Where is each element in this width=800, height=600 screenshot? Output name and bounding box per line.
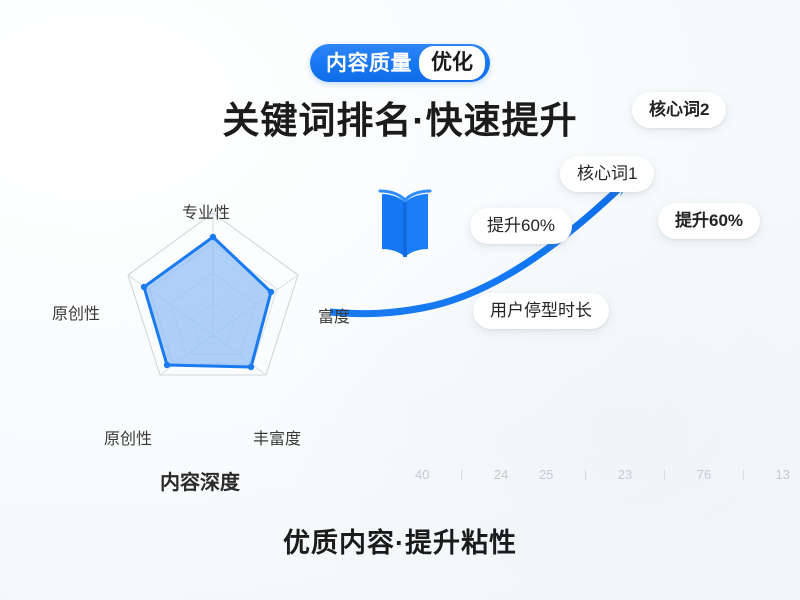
poster-canvas: 内容质量 优化 关键词排名·快速提升	[0, 0, 800, 600]
radar-series-content-depth	[141, 234, 274, 370]
tag-pill-dwell-time[interactable]: 用户停型时长	[473, 293, 609, 329]
tag-pill-keyword-2[interactable]: 核心词2	[632, 92, 726, 128]
axis-tick-2: 24	[494, 468, 508, 481]
axis-tick-0: 40	[415, 468, 429, 481]
tag-pill-lift-right[interactable]: 提升60%	[658, 203, 760, 239]
badge-main-label: 内容质量	[326, 53, 419, 74]
radar-axis-label-yuanchuangxing-bottom: 原创性	[104, 425, 152, 449]
tag-pill-lift-left[interactable]: 提升60%	[470, 208, 572, 244]
tag-pill-keyword-1[interactable]: 核心词1	[560, 156, 654, 192]
axis-tick-8: |	[742, 468, 745, 480]
axis-tick-3: 25	[539, 468, 553, 481]
radar-axis-label-yuanchuangxing-left: 原创性	[52, 300, 100, 324]
axis-tick-4: |	[584, 468, 587, 480]
axis-tick-9: 13	[775, 468, 789, 481]
axis-tick-1: |	[460, 468, 463, 480]
axis-tick-5: 23	[618, 468, 632, 481]
badge-sub-label: 优化	[419, 46, 485, 80]
radar-axis-label-zhuanyexing: 专业性	[182, 199, 230, 223]
content-depth-label: 内容深度	[160, 466, 240, 495]
open-book-icon	[372, 189, 438, 265]
axis-tick-6: |	[663, 468, 666, 480]
radar-axis-label-fengfudu: 丰富度	[253, 425, 301, 449]
axis-tick-7: 76	[697, 468, 711, 481]
page-footer-title: 优质内容·提升粘性	[0, 521, 800, 560]
radar-axis-label-fudu: 富度	[318, 303, 350, 327]
content-quality-badge[interactable]: 内容质量 优化	[310, 44, 490, 82]
baseline-axis-strip: 40 | 24 25 | 23 | 76 | 13	[415, 462, 790, 486]
